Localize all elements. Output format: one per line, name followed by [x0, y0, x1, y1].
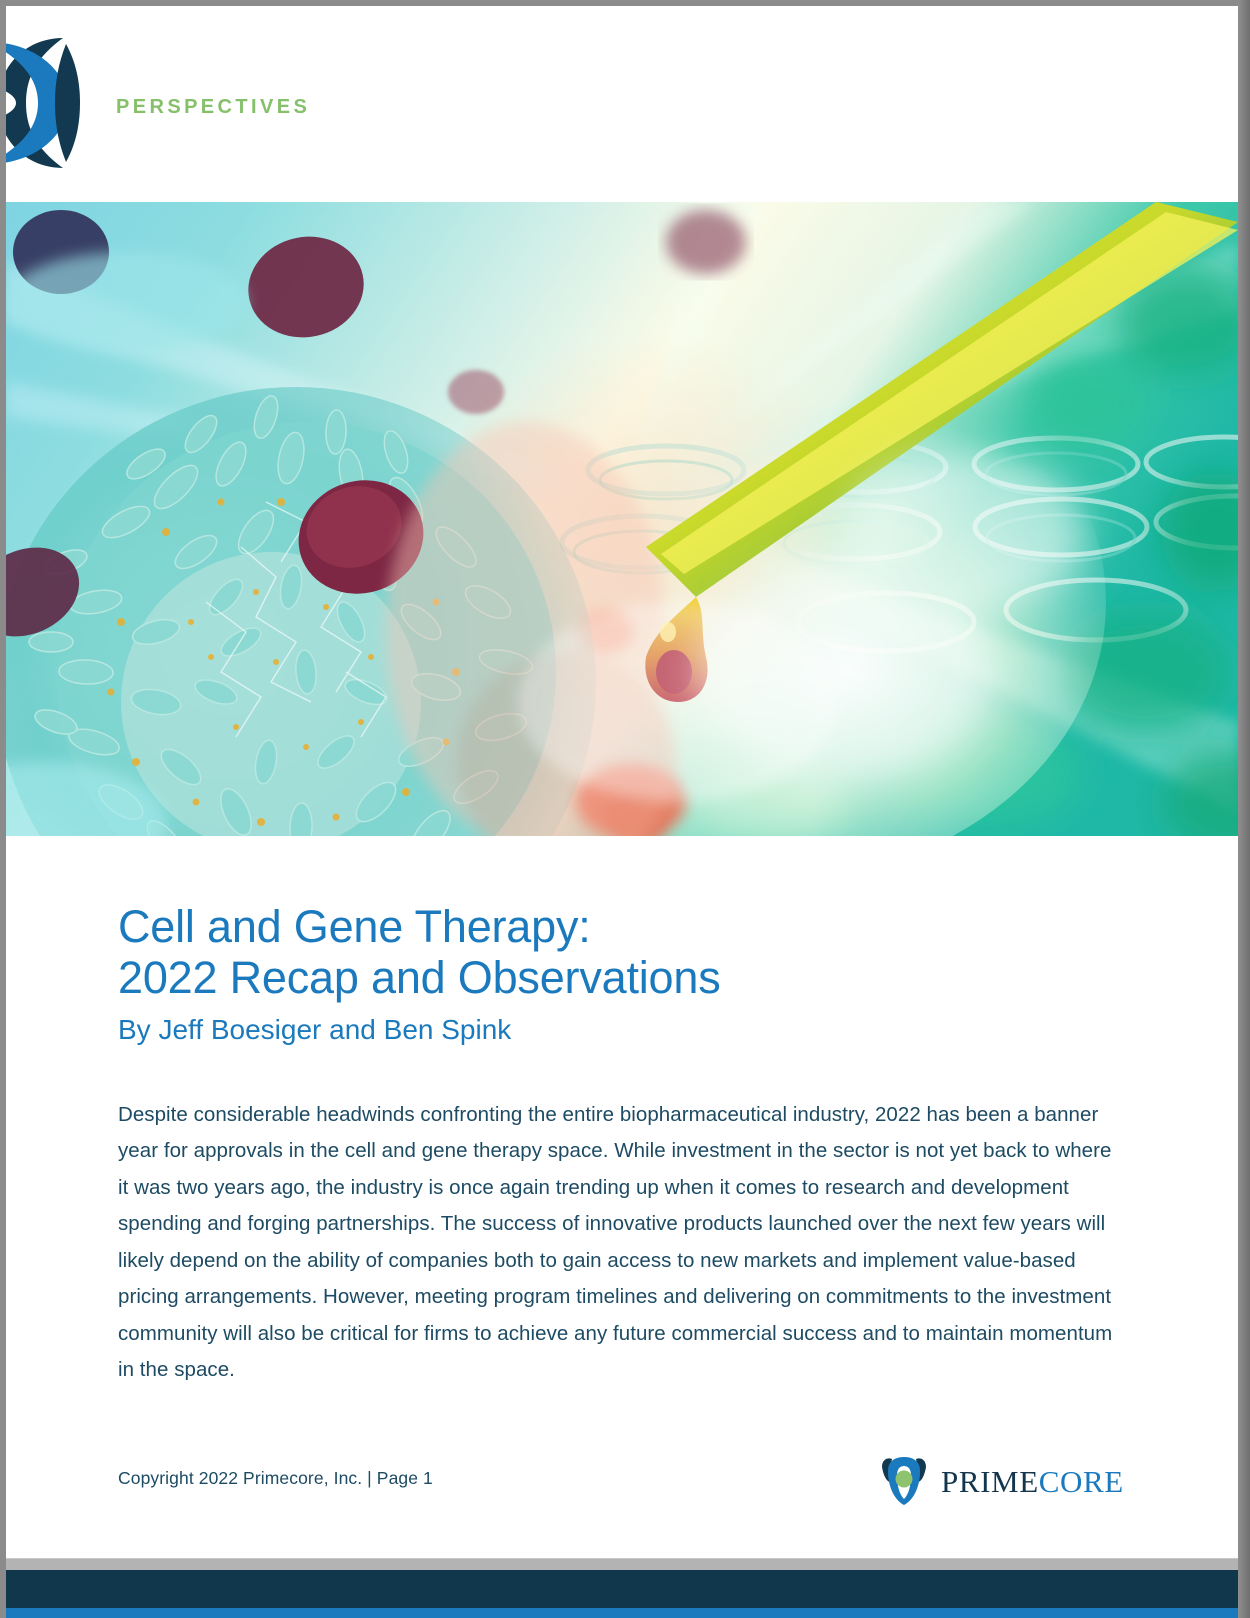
article-byline: By Jeff Boesiger and Ben Spink	[118, 1014, 511, 1046]
document-footer: Copyright 2022 Primecore, Inc. | Page 1 …	[6, 1446, 1238, 1558]
wordmark-prime: PRIME	[941, 1464, 1039, 1499]
viewer-edge-right	[1238, 0, 1250, 1618]
perspectives-kicker: PERSPECTIVES	[116, 96, 310, 119]
primecore-logo: PRIMECORE	[878, 1451, 1118, 1511]
wordmark-core: CORE	[1039, 1464, 1124, 1499]
primecore-logo-icon	[878, 1455, 930, 1507]
primecore-wordmark: PRIMECORE	[941, 1466, 1124, 1497]
primecore-mark-icon	[6, 28, 108, 178]
document-header: PERSPECTIVES	[6, 6, 1238, 202]
footer-blue-accent-bar	[6, 1608, 1238, 1618]
viewer-edge-top	[0, 0, 1250, 6]
pdf-viewer: PERSPECTIVES	[0, 0, 1250, 1618]
page-title: Cell and Gene Therapy: 2022 Recap and Ob…	[118, 901, 1118, 1003]
hero-image	[6, 202, 1238, 836]
document-page: PERSPECTIVES	[6, 6, 1238, 1558]
copyright-notice: Copyright 2022 Primecore, Inc. | Page 1	[118, 1468, 433, 1489]
footer-navy-bar	[6, 1570, 1238, 1608]
viewer-edge-left	[0, 0, 6, 1618]
article-lede-paragraph: Despite considerable headwinds confronti…	[118, 1097, 1114, 1389]
